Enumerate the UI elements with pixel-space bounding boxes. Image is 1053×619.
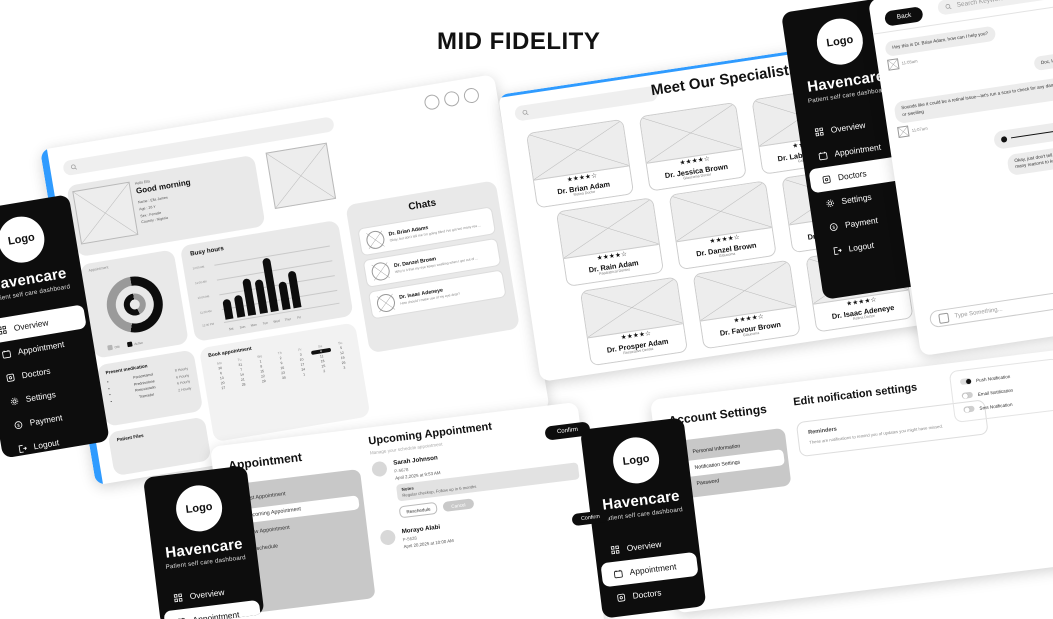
doctor-card[interactable]: ★★★★☆Dr. Rain AdamPaediatrical Dentist <box>556 197 664 287</box>
sidebar-label-overview: Overview <box>830 120 866 135</box>
back-label: Back <box>884 6 924 27</box>
settings-window: Account Settings Personal Information No… <box>650 349 1053 614</box>
donut-chart <box>103 272 167 336</box>
sidebar-label-logout: Logout <box>848 240 875 254</box>
avatar <box>376 293 397 314</box>
avatar <box>371 461 388 478</box>
ytick-4: 12:00 PM <box>202 322 214 328</box>
sidebar-label-doctors: Doctors <box>837 168 867 182</box>
donut-legend: Old Active <box>107 340 143 351</box>
bar-label-Mon: Mon <box>250 322 259 327</box>
avatar <box>887 58 900 71</box>
logout-icon <box>17 443 27 453</box>
greeting-block: Hello Ella Good morning Name : Ella Jame… <box>135 173 197 227</box>
medication-dose: 2 Hourly <box>178 386 192 392</box>
toggle-switch[interactable] <box>960 378 972 385</box>
toggle-label-email: Email Notification <box>977 387 1013 396</box>
logo: Logo <box>173 483 224 534</box>
chat-time-1: 11:05am <box>901 58 918 65</box>
sidebar-label-settings: Settings <box>25 389 57 404</box>
medication-dose: 8 Hourly <box>175 367 189 373</box>
sidebar-label-logout: Logout <box>33 437 60 451</box>
busy-hours-card: Busy hours 12:00 AM 11:00 AM 10:00 AM 11… <box>180 220 354 342</box>
bar-Thur <box>278 281 290 310</box>
appointment-donut-card: Appointment Old Active <box>80 249 189 358</box>
sidebar-label-settings: Settings <box>841 192 872 206</box>
avatar <box>897 125 910 138</box>
sidebar-label-appointment: Appointment <box>834 142 882 159</box>
medication-dose: 6 Hourly <box>176 373 190 379</box>
ytick-3: 11:00 AM <box>200 309 212 315</box>
ytick-1: 11:00 AM <box>195 279 207 285</box>
bar-label-Wed: Wed <box>272 319 281 324</box>
logo: Logo <box>610 435 661 486</box>
search-icon <box>944 3 952 11</box>
dollar-icon: $ <box>13 419 23 429</box>
donut-legend-old: Old <box>114 344 120 349</box>
settings-label-personal-information: Personal Information <box>692 443 740 455</box>
doctor-card[interactable]: ★★★★☆Dr. Danzel BrownGlaucoma <box>669 180 777 270</box>
search-icon <box>70 163 78 171</box>
calendar-icon <box>613 568 623 578</box>
patient-photo-wireframe <box>72 182 138 245</box>
doctor-card[interactable]: ★★★★☆Dr. Jessica BrownGlaucoma Doctor <box>639 102 747 192</box>
stethoscope-icon <box>616 592 626 602</box>
sidebar-label-overview: Overview <box>13 317 49 333</box>
sidebar-label-appointment: Appointment <box>629 561 677 577</box>
sidebar-label-payment: Payment <box>29 412 63 427</box>
avatar <box>365 230 386 251</box>
chat-back-button[interactable]: Back <box>883 2 924 26</box>
bar-Sat <box>222 298 233 320</box>
medication-dose: 6 Hourly <box>177 379 191 385</box>
settings-label-password: Password <box>696 478 719 487</box>
bar-label-Sun: Sun <box>238 324 247 329</box>
sidebar-nav: Overview Appointment <box>157 575 265 619</box>
svg-text:$: $ <box>832 224 836 229</box>
bar-label-Tue: Tue <box>261 321 270 326</box>
grid-icon <box>0 325 8 335</box>
sidebar-label-overview: Overview <box>189 587 225 601</box>
notification-icon[interactable] <box>423 94 440 111</box>
doctor-card[interactable]: ★★★★☆Dr. Favour BrownGlaucoma <box>693 260 801 350</box>
chat-input-placeholder: Type Something... <box>954 306 1003 319</box>
chat-search[interactable]: Search Keyword <box>937 0 1053 16</box>
reschedule-button[interactable]: Reschedule <box>399 502 438 519</box>
busy-hours-plot: 12:00 AM 11:00 AM 10:00 AM 11:00 AM 12:0… <box>192 243 343 328</box>
stethoscope-icon <box>821 174 831 184</box>
notification-toggles: Push Notification Email Notification Sms… <box>949 358 1053 423</box>
svg-text:$: $ <box>17 422 21 427</box>
confirm-label: Confirm <box>557 427 579 436</box>
medication-card: Present medication Paracetamol8 HourlyPr… <box>96 349 203 426</box>
play-icon <box>1001 136 1008 143</box>
avatar <box>379 529 396 546</box>
avatar <box>370 261 391 282</box>
doctor-card[interactable]: ★★★★☆Dr. Prosper AdamRestorative Dentist <box>580 277 688 367</box>
dollar-icon: $ <box>829 221 839 231</box>
toggle-switch[interactable] <box>963 406 975 413</box>
chat-time-2: 11:07am <box>911 125 928 132</box>
bar-Sun <box>233 294 245 317</box>
grid-icon <box>814 127 824 137</box>
sidebar-label-appointment: Appointment <box>192 609 240 619</box>
bar-Fri <box>287 270 301 308</box>
toggle-email-notification[interactable]: Email Notification <box>961 382 1051 399</box>
attachment-icon[interactable] <box>938 312 949 323</box>
stethoscope-icon <box>5 372 15 382</box>
topbar-icons <box>423 87 480 111</box>
specialists-header: Meet Our Specialists <box>650 61 798 100</box>
logo: Logo <box>0 213 48 266</box>
calendar-icon <box>818 150 828 160</box>
bar-label-Thur: Thur <box>284 317 293 322</box>
grid-icon <box>173 593 183 603</box>
chat-messages: Hey this is Dr. Brian Adam, how can I he… <box>884 8 1053 191</box>
cancel-button[interactable]: Cancel <box>443 498 474 512</box>
gear-icon <box>825 198 835 208</box>
donut-legend-active: Active <box>134 340 143 345</box>
patient-files-card: Patient Files <box>108 417 212 477</box>
chat-bubble-outgoing: Doc, lately my vision's been blurry <box>1033 45 1053 72</box>
patient-files-title: Patient Files <box>116 422 206 442</box>
bar-label-Sat: Sat <box>227 326 236 331</box>
donut-title: Appointment <box>88 254 174 272</box>
sidebar-label-overview: Overview <box>626 539 662 553</box>
sidebar-nav: Overview Appointment Doctors <box>594 527 706 611</box>
hero-wireframe <box>266 143 337 209</box>
gear-icon <box>9 396 19 406</box>
audio-track[interactable] <box>1011 121 1053 139</box>
message-icon[interactable] <box>443 90 460 107</box>
bar-label-Fri: Fri <box>295 315 304 320</box>
chats-list: Dr. Brian AdamsOkay, but don't tell me I… <box>357 206 506 319</box>
canvas: MID FIDELITY Hello Ella Good morning Nam… <box>0 0 1053 619</box>
sidebar-label-payment: Payment <box>844 215 878 230</box>
avatar[interactable] <box>463 87 480 104</box>
ytick-0: 12:00 AM <box>192 265 204 271</box>
chat-search-placeholder: Search Keyword <box>956 0 1004 9</box>
settings-confirm-label: Confirm <box>581 514 600 522</box>
toggle-push-notification[interactable]: Push Notification <box>960 368 1050 385</box>
toggle-sms-notification[interactable]: Sms Notification <box>963 396 1053 413</box>
chats-card: Chats Dr. Brian AdamsOkay, but don't tel… <box>345 180 520 353</box>
calendar-icon <box>1 348 11 358</box>
toggle-label-push: Push Notification <box>976 373 1011 382</box>
search-icon <box>521 109 529 117</box>
toggle-switch[interactable] <box>961 392 973 399</box>
sidebar-label-doctors: Doctors <box>632 587 662 600</box>
settings-label-notification-settings: Notification Settings <box>694 460 740 472</box>
bar-series <box>216 250 302 320</box>
chat-input[interactable]: Type Something... <box>929 280 1053 328</box>
book-appointment-card: Book appointment MoTuWeThFrSaSu303112345… <box>199 322 371 442</box>
doctor-card[interactable]: ★★★★☆Dr. Brian AdamRetina Doctor <box>526 119 634 209</box>
page-title: MID FIDELITY <box>437 28 600 56</box>
toggle-label-sms: Sms Notification <box>979 401 1013 410</box>
ytick-2: 10:00 AM <box>197 294 209 300</box>
logout-icon <box>832 245 842 255</box>
appointment-sidebar: Logo Havencare Patient self care dashboa… <box>143 465 265 619</box>
medication-name: Tramadol <box>139 392 155 398</box>
grid-icon <box>610 545 620 555</box>
calendar-grid[interactable]: MoTuWeThFrSaSu30311234567891011121314151… <box>209 340 354 392</box>
sidebar-label-appointment: Appointment <box>17 339 65 357</box>
sidebar-label-doctors: Doctors <box>21 366 51 381</box>
logo: Logo <box>814 15 866 67</box>
